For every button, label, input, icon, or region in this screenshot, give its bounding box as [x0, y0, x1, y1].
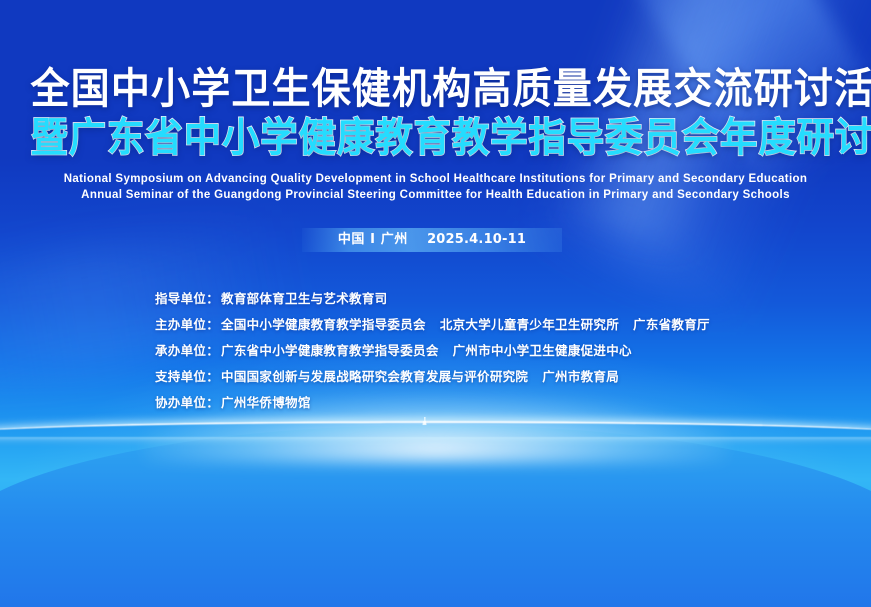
location-date-text: 中国 I 广州 2025.4.10-11	[302, 229, 562, 251]
skyline-svg	[0, 417, 871, 537]
organization-name: 广东省教育厅	[633, 317, 710, 332]
organization-row: 承办单位：广东省中小学健康教育教学指导委员会广州市中小学卫生健康促进中心	[155, 338, 775, 364]
organization-name: 广东省中小学健康教育教学指导委员会	[221, 343, 439, 358]
organization-label: 承办单位：	[155, 343, 219, 358]
horizon-fill	[0, 425, 871, 607]
page-title-line2: 暨广东省中小学健康教育教学指导委员会年度研讨活动	[30, 114, 840, 162]
canton-tower	[420, 417, 434, 509]
organization-name: 教育部体育卫生与艺术教育司	[221, 291, 387, 306]
title-block: 全国中小学卫生保健机构高质量发展交流研讨活动 暨广东省中小学健康教育教学指导委员…	[0, 64, 871, 203]
short-tower	[634, 465, 648, 509]
subtitle-english-line2: Annual Seminar of the Guangdong Provinci…	[0, 187, 871, 203]
organization-name: 中国国家创新与发展战略研究会教育发展与评价研究院	[221, 369, 528, 384]
organization-name: 广州市教育局	[542, 369, 619, 384]
organization-label: 支持单位：	[155, 369, 219, 384]
organizations-list: 指导单位：教育部体育卫生与艺术教育司主办单位：全国中小学健康教育教学指导委员会北…	[155, 286, 775, 416]
high-rise-tower	[519, 447, 536, 509]
organization-row: 指导单位：教育部体育卫生与艺术教育司	[155, 286, 775, 312]
slim-tower	[588, 441, 606, 509]
organization-name: 广州市中小学卫生健康促进中心	[453, 343, 632, 358]
subtitle-english-line1: National Symposium on Advancing Quality …	[0, 171, 871, 187]
school-building	[262, 435, 408, 505]
horizon-glow-line	[0, 421, 871, 437]
organization-label: 指导单位：	[155, 291, 219, 306]
office-tower	[480, 433, 500, 507]
city-skyline	[0, 417, 871, 537]
organization-name: 全国中小学健康教育教学指导委员会	[221, 317, 426, 332]
conference-poster: 全国中小学卫生保健机构高质量发展交流研讨活动 暨广东省中小学健康教育教学指导委员…	[0, 0, 871, 607]
organization-row: 主办单位：全国中小学健康教育教学指导委员会北京大学儿童青少年卫生研究所广东省教育…	[155, 312, 775, 338]
organization-name: 北京大学儿童青少年卫生研究所	[440, 317, 619, 332]
organization-label: 主办单位：	[155, 317, 219, 332]
badge-location: 中国 I 广州	[338, 232, 408, 247]
organization-row: 协办单位：广州华侨博物馆	[155, 390, 775, 416]
organization-row: 支持单位：中国国家创新与发展战略研究会教育发展与评价研究院广州市教育局	[155, 364, 775, 390]
twin-spire-tower	[439, 437, 473, 507]
organization-label: 协办单位：	[155, 395, 219, 410]
organization-name: 广州华侨博物馆	[221, 395, 311, 410]
page-title-line1: 全国中小学卫生保健机构高质量发展交流研讨活动	[30, 64, 840, 114]
badge-date: 2025.4.10-11	[427, 232, 526, 247]
